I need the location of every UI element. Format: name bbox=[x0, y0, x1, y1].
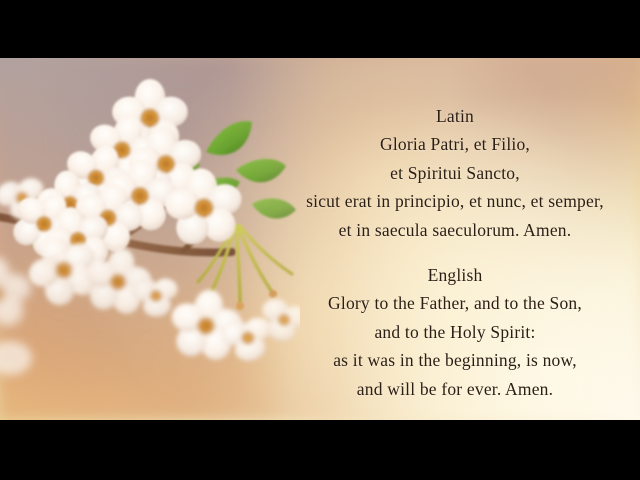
latin-line-3: sicut erat in principio, et nunc, et sem… bbox=[255, 187, 640, 215]
latin-line-2: et Spiritui Sancto, bbox=[255, 159, 640, 187]
latin-line-1: Gloria Patri, et Filio, bbox=[255, 130, 640, 158]
english-line-1: Glory to the Father, and to the Son, bbox=[255, 289, 640, 317]
english-heading: English bbox=[255, 261, 640, 289]
verse-block-english: English Glory to the Father, and to the … bbox=[255, 261, 640, 403]
letterbox-bar-bottom bbox=[0, 420, 640, 480]
english-line-3: as it was in the beginning, is now, bbox=[255, 346, 640, 374]
verse-block-latin: Latin Gloria Patri, et Filio, et Spiritu… bbox=[255, 102, 640, 244]
latin-line-4: et in saecula saeculorum. Amen. bbox=[255, 216, 640, 244]
latin-heading: Latin bbox=[255, 102, 640, 130]
english-line-4: and will be for ever. Amen. bbox=[255, 375, 640, 403]
english-line-2: and to the Holy Spirit: bbox=[255, 318, 640, 346]
verse-overlay: Latin Gloria Patri, et Filio, et Spiritu… bbox=[255, 58, 640, 420]
letterbox-bar-top bbox=[0, 0, 640, 58]
video-frame: Latin Gloria Patri, et Filio, et Spiritu… bbox=[0, 0, 640, 480]
